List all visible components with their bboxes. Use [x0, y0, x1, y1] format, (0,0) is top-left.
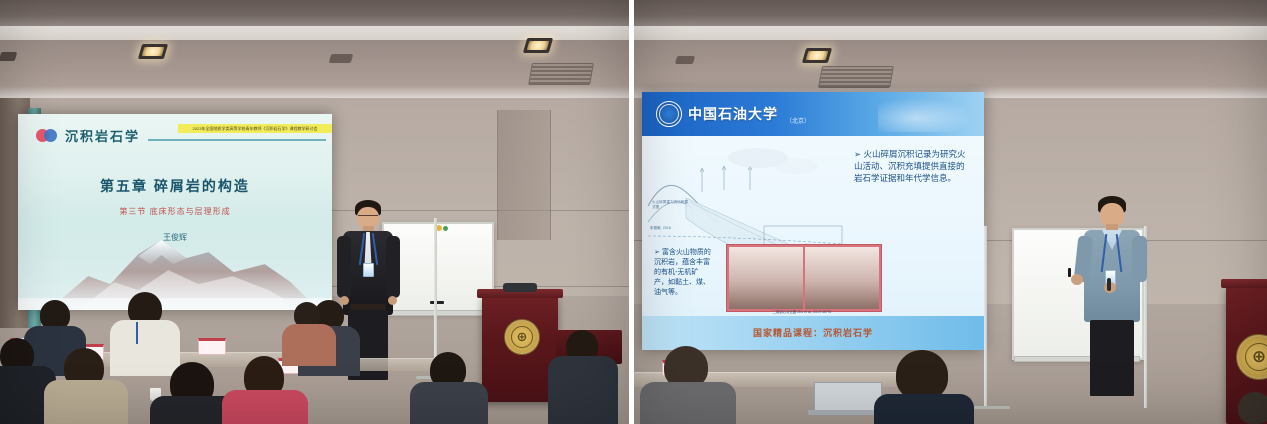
whiteboard-marker-icon	[430, 301, 444, 304]
ceiling-spotlight-icon	[0, 52, 17, 61]
side-door	[497, 110, 551, 240]
photo-divider	[629, 0, 634, 424]
presenter-in-blue-sweater	[1074, 196, 1150, 396]
ceiling-lip	[634, 26, 1267, 40]
whiteboard-stand-leg	[434, 218, 437, 378]
screenshot-stage: 沉积岩石学 2023年全国地质学类高等学校青年教师《沉积岩石学》课程教学研讨会 …	[0, 0, 1267, 424]
whiteboard-magnet-icon	[443, 226, 448, 231]
air-vent-icon	[818, 66, 894, 88]
ceiling-spotlight-icon	[523, 38, 553, 53]
ceiling-dark-band	[634, 0, 1267, 26]
name-card	[198, 338, 226, 355]
podium-microphone-icon	[503, 283, 537, 292]
lectern-podium: ⊕	[482, 296, 558, 402]
left-lecture-photo: 沉积岩石学 2023年全国地质学类高等学校青年教师《沉积岩石学》课程教学研讨会 …	[0, 0, 629, 424]
air-vent-icon	[528, 63, 594, 85]
projection-screen: 中国石油大学 （北京）	[642, 92, 984, 350]
conference-badge	[363, 263, 374, 277]
presentation-clicker	[1068, 268, 1071, 277]
ceiling-spotlight-icon	[675, 56, 695, 64]
ceiling-spotlight-icon	[138, 44, 168, 59]
university-emblem-icon: ⊕	[504, 319, 540, 355]
whiteboard-stand-leg	[984, 226, 987, 408]
whiteboard-stand-foot	[974, 406, 1010, 409]
screen-frame	[642, 92, 984, 350]
ceiling-spotlight-icon	[329, 54, 354, 63]
glasses-icon	[358, 215, 378, 219]
ceiling-dark-band	[0, 0, 629, 26]
screen-frame	[18, 114, 332, 310]
ceiling-spotlight-icon	[802, 48, 832, 63]
right-lecture-photo: 中国石油大学 （北京）	[634, 0, 1267, 424]
laptop	[814, 382, 882, 411]
projection-screen: 沉积岩石学 2023年全国地质学类高等学校青年教师《沉积岩石学》课程教学研讨会 …	[18, 114, 332, 310]
podium-top	[1221, 279, 1267, 288]
handheld-microphone	[1107, 278, 1111, 291]
ceiling-panel	[634, 40, 1267, 98]
university-emblem-icon: ⊕	[1236, 334, 1267, 380]
